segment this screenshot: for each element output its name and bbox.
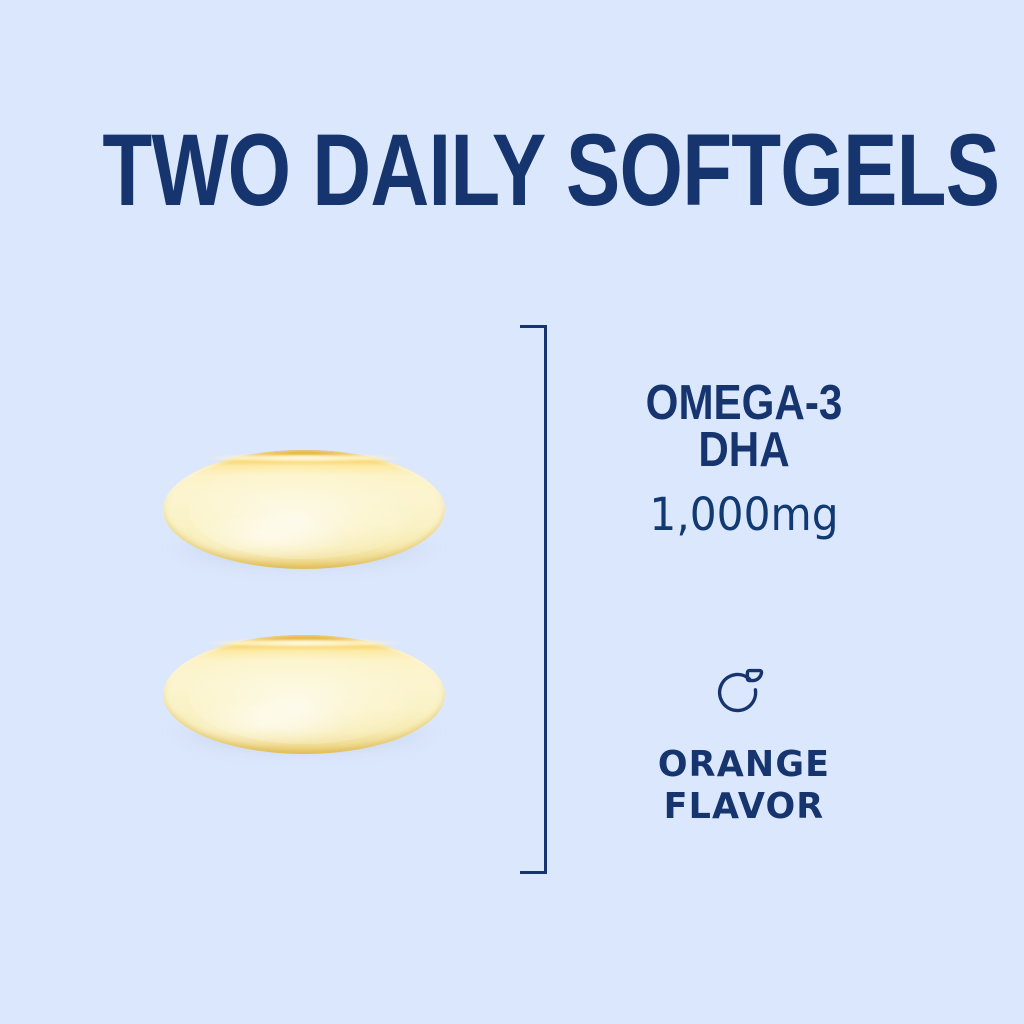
softgel-capsule — [163, 635, 445, 754]
page-title: TWO DAILY SOFTGELS — [102, 118, 921, 222]
ingredient-info: OMEGA-3 DHA 1,000mg — [598, 380, 890, 539]
ingredient-name-line-2: DHA — [618, 427, 869, 474]
softgel-bottom — [160, 631, 452, 763]
softgel-top — [160, 446, 452, 576]
bracket-bottom-arm — [520, 871, 547, 874]
product-callout-graphic: TWO DAILY SOFTGELS OMEGA-3 DHA 1,000mg O… — [0, 0, 1024, 1024]
bracket — [519, 325, 547, 874]
softgel-capsule — [163, 450, 445, 569]
ingredient-dose: 1,000mg — [607, 491, 881, 539]
flavor-label-line-1: ORANGE — [602, 744, 885, 786]
bracket-top-arm — [520, 325, 547, 328]
ingredient-name-line-1: OMEGA-3 — [618, 380, 869, 427]
orange-fruit-icon — [716, 665, 772, 723]
flavor-label-line-2: FLAVOR — [602, 786, 885, 828]
flavor-info: ORANGE FLAVOR — [598, 665, 890, 828]
bracket-vertical-line — [544, 325, 547, 874]
